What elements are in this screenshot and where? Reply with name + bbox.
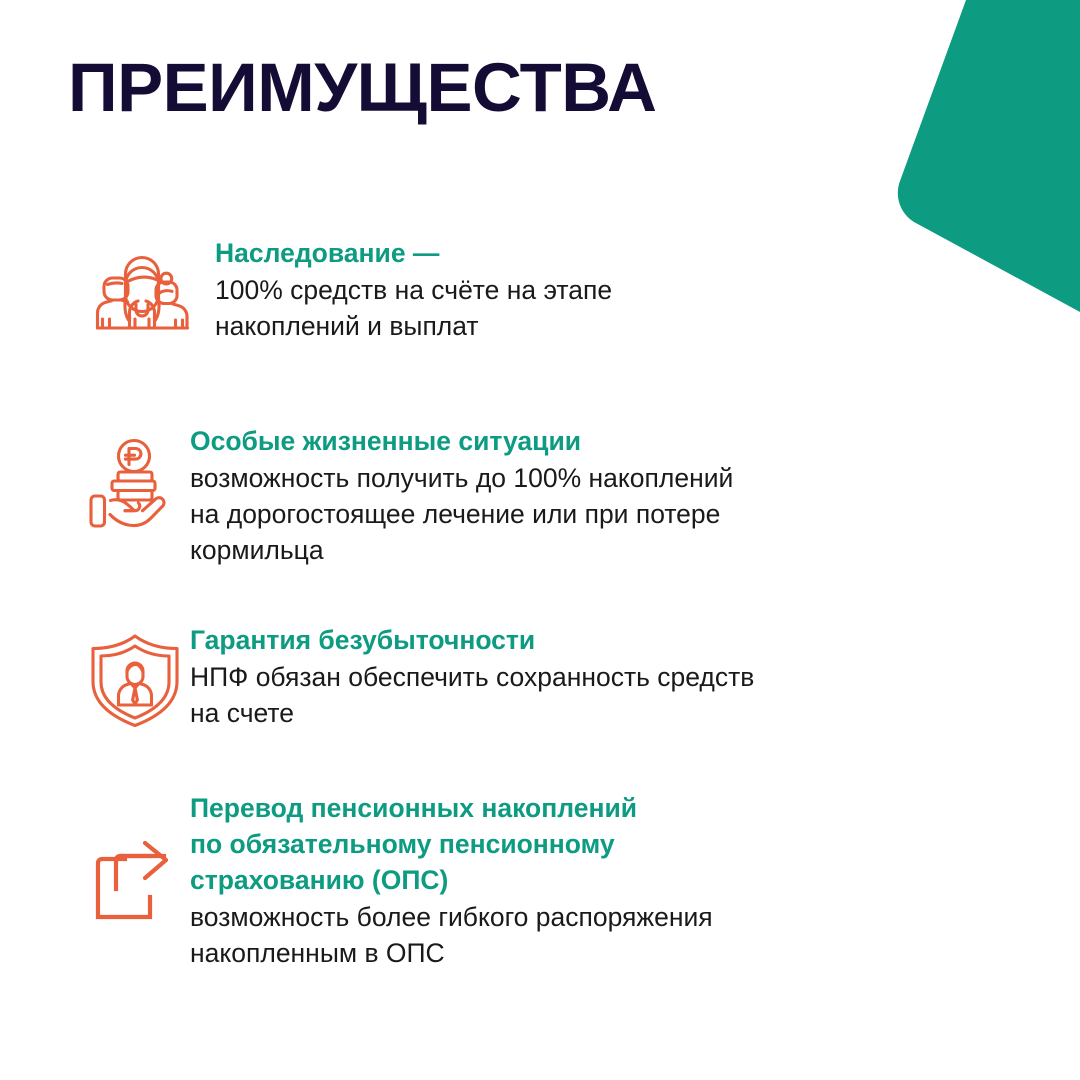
green-angled-corner-shape [880, 0, 1080, 330]
benefit-heading: Особые жизненные ситуации [190, 424, 900, 459]
benefit-item: Гарантия безубыточности НПФ обязан обесп… [80, 623, 900, 731]
benefit-text-line: возможность получить до 100% накоплений [190, 460, 900, 496]
benefit-text-line: накопленным в ОПС [190, 935, 900, 971]
benefit-item: Перевод пенсионных накоплений по обязате… [80, 791, 900, 971]
benefit-heading: страхованию (ОПС) [190, 863, 900, 898]
benefit-heading: Наследование — [215, 236, 900, 271]
external-transfer-arrow-icon [80, 791, 190, 927]
benefit-body: Гарантия безубыточности НПФ обязан обесп… [190, 623, 900, 731]
family-group-icon [80, 236, 203, 342]
benefit-text-line: НПФ обязан обеспечить сохранность средст… [190, 659, 900, 695]
benefit-text-line: 100% средств на счёте на этапе [215, 272, 900, 308]
hand-holding-ruble-coins-icon [80, 424, 190, 534]
benefit-body: Перевод пенсионных накоплений по обязате… [190, 791, 900, 971]
shield-person-icon [80, 623, 190, 729]
benefit-item: Особые жизненные ситуации возможность по… [80, 424, 900, 568]
benefit-text-line: на дорогостоящее лечение или при потере [190, 496, 900, 532]
benefit-heading: Перевод пенсионных накоплений [190, 791, 900, 826]
benefit-heading: Гарантия безубыточности [190, 623, 900, 658]
benefit-text-line: возможность более гибкого распоряжения [190, 899, 900, 935]
benefit-text-line: на счете [190, 695, 900, 731]
benefit-body: Особые жизненные ситуации возможность по… [190, 424, 900, 568]
benefit-heading: по обязательному пенсионному [190, 827, 900, 862]
slide-canvas: ПРЕИМУЩЕСТВА [0, 0, 1080, 1080]
benefit-text-line: накоплений и выплат [215, 308, 900, 344]
benefit-item: Наследование — 100% средств на счёте на … [80, 236, 900, 344]
benefit-text-line: кормильца [190, 532, 900, 568]
benefit-body: Наследование — 100% средств на счёте на … [203, 236, 900, 344]
page-title: ПРЕИМУЩЕСТВА [68, 48, 656, 128]
